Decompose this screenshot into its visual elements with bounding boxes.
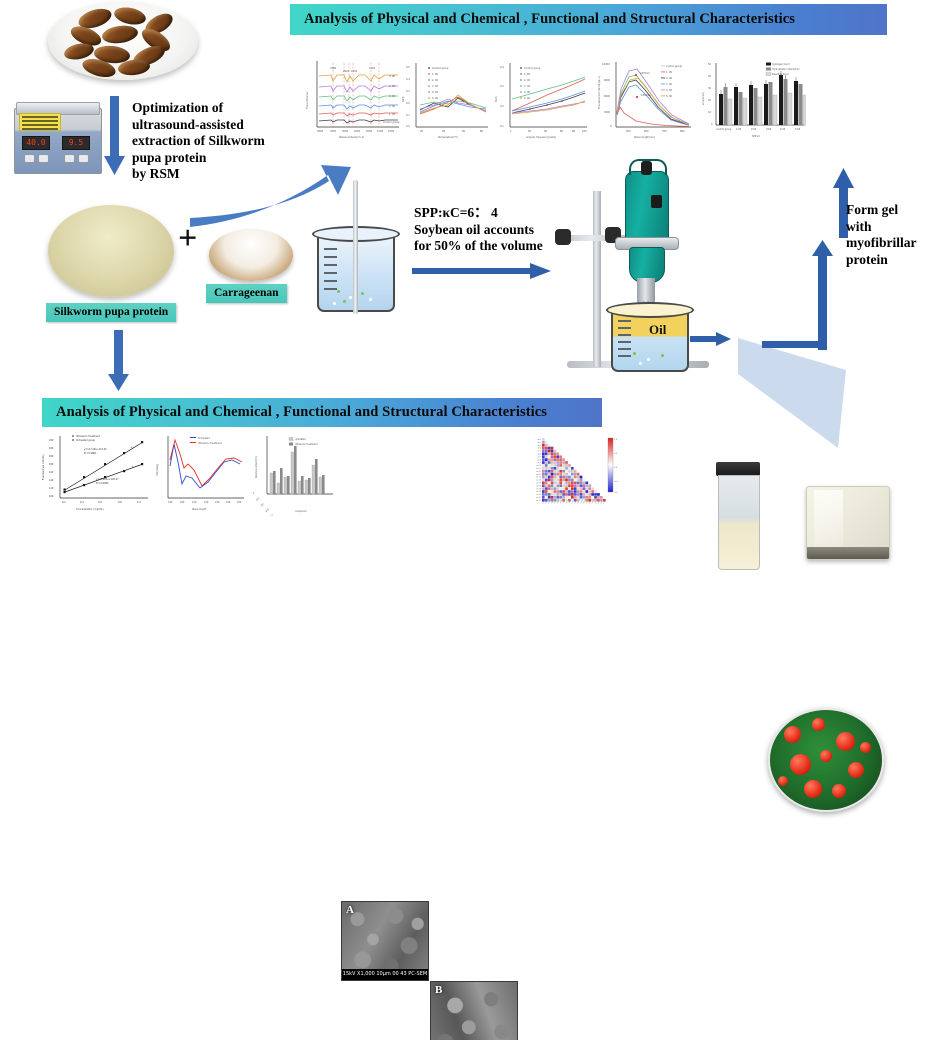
warning-label-icon (19, 113, 61, 131)
svg-text:120: 120 (49, 487, 54, 490)
svg-text:4. 00: 4. 00 (666, 89, 673, 92)
svg-text:190: 190 (168, 501, 173, 504)
svg-text:Wavenumbers(cm-1): Wavenumbers(cm-1) (339, 136, 364, 139)
svg-text:230: 230 (215, 501, 220, 504)
svg-text:100: 100 (49, 495, 54, 498)
svg-text:3:00: 3:00 (766, 128, 772, 131)
clamp-knob-left[interactable] (555, 229, 571, 245)
svg-text:2000: 2000 (366, 130, 373, 133)
bath-knob-2[interactable] (38, 154, 49, 163)
spp-label: Silkworm pupa protein (46, 303, 176, 322)
svg-text:80: 80 (480, 130, 484, 133)
fluorescence-micrograph (768, 708, 884, 812)
chart-structure-bars: 504030 20100 control group1:002:00 3:004… (700, 57, 810, 142)
svg-text:var16: var16 (536, 482, 541, 485)
svg-text:0.4: 0.4 (500, 66, 504, 69)
svg-text:var15: var15 (536, 479, 541, 482)
svg-text:y=117.26x+114.25: y=117.26x+114.25 (84, 448, 107, 451)
arrow-down-to-bottom-analysis (108, 330, 130, 392)
svg-text:Wave length: Wave length (192, 508, 207, 511)
svg-text:250: 250 (237, 501, 242, 504)
svg-text:var12: var12 (536, 470, 541, 473)
bath-led-left: 40.0 (22, 136, 50, 150)
svg-text:var4: var4 (537, 447, 541, 450)
svg-text:1. 00: 1. 00 (666, 71, 673, 74)
sem-a-scalebar: 15kVX1,00010μm00 43PC-SEM (342, 969, 428, 980)
chart-ftir: 400035003000 250020001500 1000 Wavenumbe… (303, 57, 403, 142)
svg-text:1:00: 1:00 (736, 128, 742, 131)
vial-tube (718, 475, 760, 570)
svg-text:Concentration ( mg/mL ): Concentration ( mg/mL ) (76, 508, 104, 511)
svg-text:100: 100 (582, 130, 587, 133)
svg-text:Angular frequency(rad/s): Angular frequency(rad/s) (526, 136, 556, 139)
svg-text:0.3: 0.3 (500, 85, 504, 88)
gel-cube-photo (806, 486, 890, 560)
svg-text:3. 00: 3. 00 (389, 95, 396, 98)
svg-text:1. 00: 1. 00 (524, 73, 531, 76)
arrow-right-to-homogenizer (412, 263, 552, 279)
svg-text:0.4: 0.4 (80, 501, 84, 504)
svg-text:210: 210 (192, 501, 197, 504)
svg-text:5. 00: 5. 00 (432, 97, 439, 100)
svg-text:var11: var11 (536, 467, 541, 470)
silkworm-pupae-bowl-photo (48, 2, 198, 80)
svg-text:2920: 2920 (343, 70, 350, 73)
chart-amino-acid-bars: untreatedUltrasonic treatment compound R… (253, 432, 337, 516)
svg-text:0.1: 0.1 (500, 125, 504, 128)
svg-text:0.8: 0.8 (118, 501, 122, 504)
svg-text:Transmittance: Transmittance (306, 92, 309, 109)
svg-text:var13: var13 (536, 473, 541, 476)
svg-text:R²=0.9861: R²=0.9861 (84, 452, 97, 455)
svg-text:Tanδ: Tanδ (402, 96, 405, 102)
svg-text:2. 00: 2. 00 (666, 77, 673, 80)
svg-text:var17: var17 (536, 484, 541, 487)
svg-text:Ultrasonic treatment: Ultrasonic treatment (198, 442, 222, 445)
svg-text:40: 40 (442, 130, 446, 133)
svg-text:var10: var10 (536, 464, 541, 467)
stirring-rod (353, 180, 358, 314)
bath-knob-3[interactable] (64, 154, 75, 163)
stand-post (593, 191, 601, 367)
svg-text:0.2: 0.2 (500, 105, 504, 108)
svg-text:1500: 1500 (377, 130, 384, 133)
svg-text:1. 00: 1. 00 (432, 73, 439, 76)
arrow-right-to-emulsion (690, 332, 732, 346)
svg-text:0.2: 0.2 (62, 501, 66, 504)
svg-text:R²=0.9984: R²=0.9984 (96, 482, 109, 485)
svg-text:240: 240 (49, 439, 54, 442)
svg-text:Control group: Control group (383, 121, 400, 124)
svg-text:160: 160 (49, 471, 54, 474)
svg-text:3000: 3000 (604, 111, 611, 114)
svg-text:Relative content(%): Relative content(%) (255, 456, 258, 478)
svg-text:3. 00: 3. 00 (524, 85, 531, 88)
svg-text:6000: 6000 (604, 95, 611, 98)
svg-text:var22: var22 (536, 499, 541, 502)
sem-image-a: 15kVX1,00010μm00 43PC-SEM A (341, 901, 429, 981)
svg-text:4. 00: 4. 00 (389, 85, 396, 88)
svg-text:Wave length(nm): Wave length(nm) (634, 136, 655, 139)
carrageenan-label: Carrageenan (206, 284, 287, 303)
svg-text:0.1: 0.1 (406, 114, 410, 117)
chart-correlation-heatmap: var1var1var2var2var3var3var4var4var5var5… (522, 432, 628, 518)
svg-text:500: 500 (626, 130, 631, 133)
svg-text:var3: var3 (537, 444, 541, 447)
homogenizer-handle[interactable] (629, 159, 667, 175)
svg-text:hydrogen bond: hydrogen bond (772, 63, 790, 66)
svg-text:200: 200 (180, 501, 185, 504)
svg-text:Ultrasonic treatment: Ultrasonic treatment (76, 435, 100, 438)
svg-text:3000: 3000 (342, 130, 349, 133)
svg-text:4000: 4000 (317, 130, 324, 133)
svg-text:2. 00: 2. 00 (524, 79, 531, 82)
arrow-elbow-emulsion-to-gel (762, 336, 822, 352)
svg-text:var21: var21 (536, 496, 541, 499)
svg-text:1240: 1240 (369, 67, 376, 70)
chart-temperature: 0.50.40.3 0.20.10.0 20406080 Temperature… (400, 57, 492, 142)
svg-text:Tanδ: Tanδ (495, 96, 498, 102)
svg-text:2:00: 2:00 (751, 128, 757, 131)
svg-text:1650: 1650 (351, 70, 358, 73)
svg-text:var20: var20 (536, 493, 541, 496)
bottom-banner-title: Analysis of Physical and Chemical , Func… (42, 404, 547, 421)
svg-text:0.2: 0.2 (406, 102, 410, 105)
svg-text:2. 00: 2. 00 (389, 105, 396, 108)
svg-text:var7: var7 (537, 455, 541, 458)
svg-text:3280: 3280 (330, 67, 337, 70)
svg-text:Untreated: Untreated (198, 437, 210, 440)
chart-fluorescence: 1200090006000 30000 500600700800 Wave le… (596, 57, 696, 142)
top-banner: Analysis of Physical and Chemical , Func… (290, 4, 887, 35)
svg-text:compound: compound (295, 510, 307, 513)
chart-fluorescence-concentration: Ultrasonic treatmentUntreated group y=11… (38, 432, 154, 516)
svg-text:60: 60 (560, 130, 564, 133)
svg-text:a375nm: a375nm (640, 72, 651, 75)
svg-text:180: 180 (49, 463, 54, 466)
svg-text:80: 80 (572, 130, 576, 133)
svg-text:CD(mdeg): CD(mdeg) (156, 464, 159, 476)
chart-angular-frequency: 0.40.30.20.1 12040 6080100 Angular frequ… (492, 57, 592, 142)
svg-text:800: 800 (680, 130, 685, 133)
oil-label: Oil (649, 322, 666, 338)
svg-text:0.5: 0.5 (406, 66, 410, 69)
svg-text:2. 00: 2. 00 (432, 79, 439, 82)
svg-text:Untreated group: Untreated group (76, 439, 95, 442)
bowl (48, 2, 198, 80)
bath-led-right: 9.5 (62, 136, 90, 150)
form-gel-text: Form gel with myofibrillar protein (846, 202, 931, 268)
svg-text:20: 20 (528, 130, 532, 133)
svg-text:240: 240 (226, 501, 231, 504)
svg-text:2500: 2500 (354, 130, 361, 133)
svg-text:var1: var1 (537, 438, 541, 441)
svg-text:var14: var14 (536, 476, 541, 479)
svg-text:var2: var2 (537, 441, 541, 444)
svg-text:control group: control group (666, 65, 682, 68)
svg-text:Control group: Control group (432, 67, 449, 70)
svg-text:Hydrophobic interaction: Hydrophobic interaction (772, 68, 800, 71)
svg-text:Control group: Control group (524, 67, 541, 70)
svg-text:SPP:κC: SPP:κC (752, 135, 760, 138)
sem-a-tag: A (346, 904, 354, 916)
bottom-banner: Analysis of Physical and Chemical , Func… (42, 398, 602, 427)
svg-text:60: 60 (462, 130, 466, 133)
svg-text:0.4: 0.4 (406, 78, 410, 81)
arrow-up-from-emulsion (812, 240, 834, 350)
svg-text:Disulfide bond: Disulfide bond (772, 73, 789, 76)
sem-image-b: 15kVX1,00010μm00 45PC-SEM B (430, 981, 518, 1040)
svg-text:200: 200 (49, 455, 54, 458)
beaker-with-stirring-rod (317, 222, 391, 310)
silkworm-pupa-protein-photo (48, 205, 174, 297)
svg-text:y=74.465x+120.27: y=74.465x+120.27 (96, 478, 119, 481)
svg-text:1. 00: 1. 00 (389, 113, 396, 116)
svg-text:var19: var19 (536, 490, 541, 493)
svg-text:220: 220 (49, 447, 54, 450)
svg-text:var9: var9 (537, 461, 541, 464)
svg-text:var5: var5 (537, 450, 541, 453)
svg-text:5:00: 5:00 (795, 128, 801, 131)
svg-text:4:00: 4:00 (780, 128, 786, 131)
svg-text:20: 20 (420, 130, 424, 133)
svg-text:5. 00: 5. 00 (524, 97, 531, 100)
svg-text:var8: var8 (537, 458, 541, 461)
svg-text:structure%: structure% (702, 92, 705, 105)
svg-text:Temperature(°C): Temperature(°C) (438, 136, 458, 139)
carrageenan-photo (209, 229, 293, 281)
svg-text:5. 00: 5. 00 (666, 95, 673, 98)
arrow-down-extraction (104, 96, 126, 176)
svg-text:0.3: 0.3 (406, 90, 410, 93)
svg-text:1.0: 1.0 (137, 501, 141, 504)
svg-text:220: 220 (204, 501, 209, 504)
svg-text:4. 00: 4. 00 (524, 91, 531, 94)
svg-text:untreated: untreated (295, 438, 306, 441)
sem-b-tag: B (435, 984, 442, 996)
bath-knob-4[interactable] (78, 154, 89, 163)
svg-text:4. 00: 4. 00 (432, 91, 439, 94)
svg-text:0.0: 0.0 (406, 125, 410, 128)
svg-text:b350nm: b350nm (641, 94, 652, 97)
svg-text:40: 40 (544, 130, 548, 133)
svg-text:140: 140 (49, 479, 54, 482)
svg-text:1000: 1000 (388, 130, 395, 133)
svg-text:var6: var6 (537, 453, 541, 456)
ultrasonic-bath-device: 40.0 9.5 (14, 100, 100, 174)
bath-knob-1[interactable] (24, 154, 35, 163)
chart-cd-spectra: 190200210 220230240 250 Wave length CD(m… (152, 432, 250, 516)
svg-text:3500: 3500 (330, 130, 337, 133)
svg-text:700: 700 (662, 130, 667, 133)
vial-cap (716, 462, 760, 476)
svg-text:12000: 12000 (602, 63, 610, 66)
svg-text:Fluorescence intensity: Fluorescence intensity (42, 454, 45, 480)
top-banner-title: Analysis of Physical and Chemical , Func… (290, 11, 795, 28)
svg-text:Fluorescence intensity(a.u.): Fluorescence intensity(a.u.) (598, 76, 601, 109)
svg-text:Ultrasonic treatment: Ultrasonic treatment (295, 443, 318, 446)
homogenizer-apparatus: Oil (565, 165, 715, 390)
homogenizer-switch[interactable] (651, 195, 662, 208)
svg-text:0.6: 0.6 (98, 501, 102, 504)
oil-beaker: Oil (611, 308, 685, 370)
svg-text:3. 00: 3. 00 (666, 83, 673, 86)
svg-text:control group: control group (716, 128, 732, 131)
svg-text:600: 600 (644, 130, 649, 133)
svg-text:9000: 9000 (604, 79, 611, 82)
svg-text:3. 00: 3. 00 (432, 85, 439, 88)
svg-text:5. 00: 5. 00 (389, 75, 396, 78)
svg-text:var18: var18 (536, 487, 541, 490)
